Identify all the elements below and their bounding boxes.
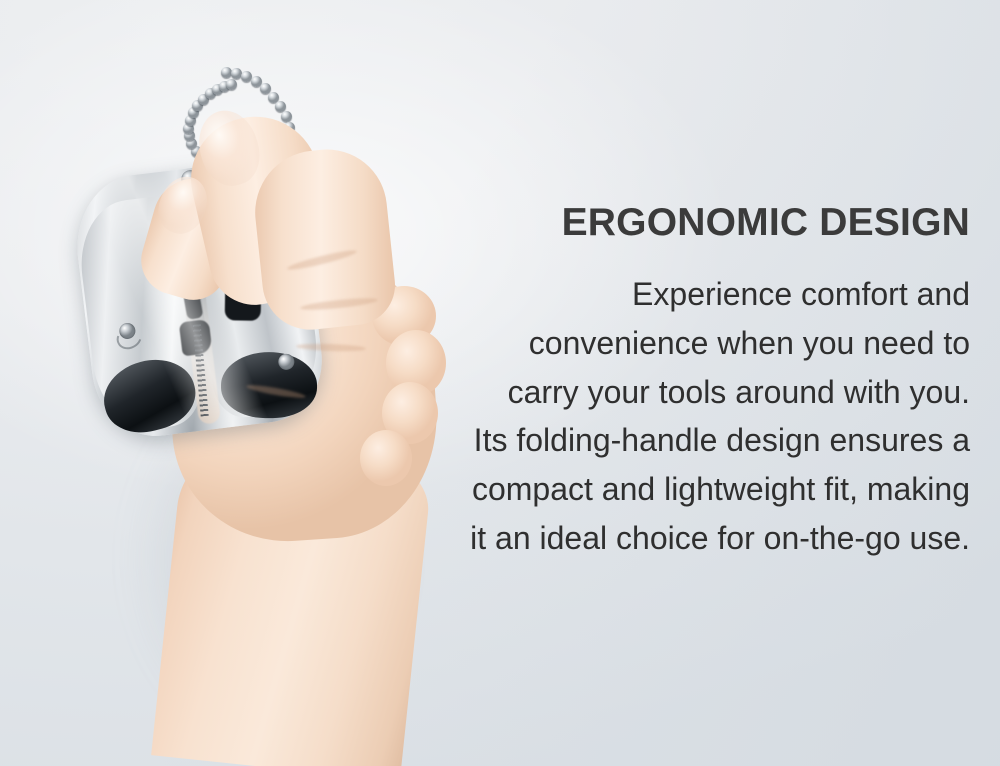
chain-bead [221,67,232,78]
knuckle [360,430,412,486]
text-panel: ERGONOMIC DESIGN Experience comfort and … [470,0,985,766]
multitool-handle-tip [221,352,317,418]
description-text: Experience comfort and convenience when … [470,270,970,564]
chain-bead [226,79,237,90]
chain-bead [231,68,242,79]
product-photo [0,0,470,766]
product-feature-banner: ERGONOMIC DESIGN Experience comfort and … [0,0,1000,766]
page-title: ERGONOMIC DESIGN [562,203,970,244]
chain-bead [281,111,292,122]
